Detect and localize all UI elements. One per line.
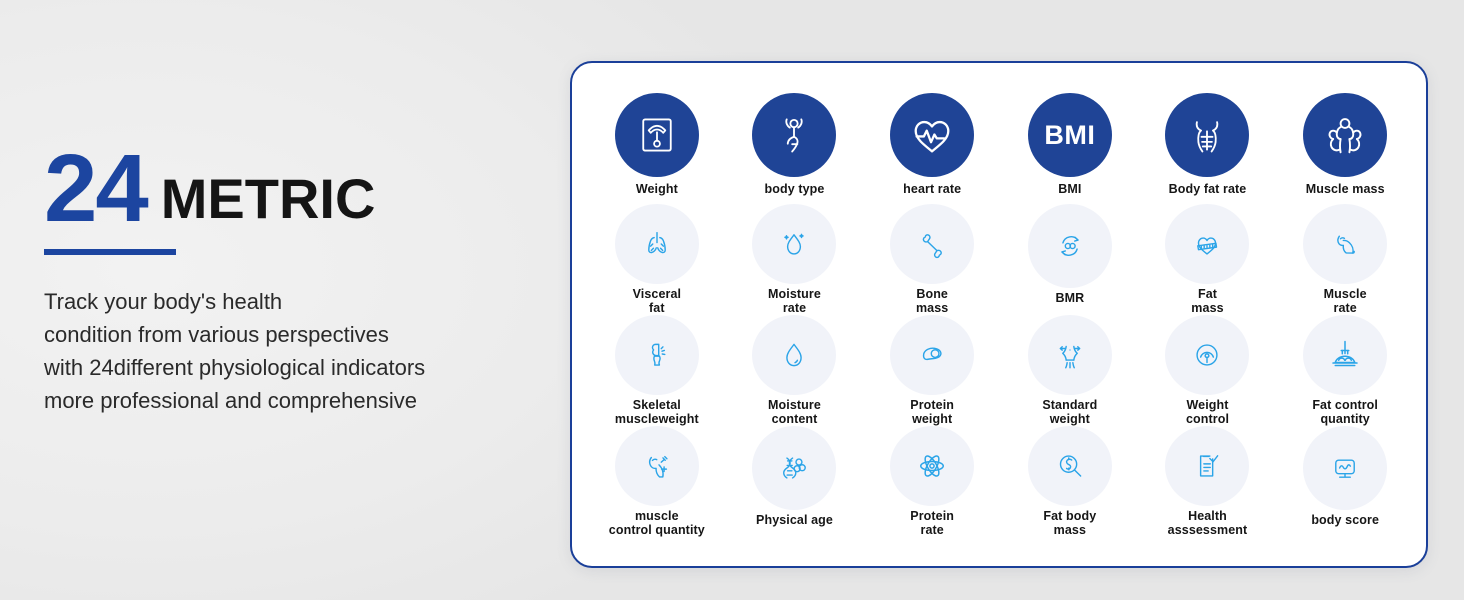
metric-label: Moisturecontent — [768, 399, 821, 426]
fat-ruler-icon — [1190, 227, 1224, 261]
metric-icon-bubble[interactable] — [1028, 204, 1112, 288]
metric-label: BMR — [1055, 292, 1084, 306]
title-underline — [44, 249, 176, 255]
metric-label-line1: Weight — [1186, 398, 1228, 412]
metric-cell[interactable]: BMR — [1001, 204, 1139, 315]
metric-label-line2: control — [1186, 413, 1229, 427]
headline-number: 24 — [44, 148, 147, 231]
metrics-card: Weight body type heart rateBMIBMI Body f… — [570, 61, 1428, 568]
metric-cell[interactable]: Fatmass — [1139, 204, 1277, 315]
metric-cell[interactable]: body type — [726, 93, 864, 204]
metric-label: Body fat rate — [1169, 183, 1247, 197]
metric-label: heart rate — [903, 183, 961, 197]
magnifier-fat-icon — [1053, 449, 1087, 483]
metric-cell[interactable]: Healthasssessment — [1139, 426, 1277, 537]
metric-label-line1: BMI — [1058, 182, 1081, 196]
description-line-3: with 24different physiological indicator… — [44, 351, 514, 384]
lungs-icon — [640, 227, 674, 261]
heart-pulse-icon — [909, 112, 955, 158]
description-line-2: condition from various perspectives — [44, 318, 514, 351]
metric-label-line1: Physical age — [756, 513, 833, 527]
metric-cell[interactable]: Proteinweight — [863, 315, 1001, 426]
metric-label-line1: Moisture — [768, 287, 821, 301]
description-text: Track your body's health condition from … — [44, 285, 514, 417]
metabolism-cycle-icon — [1053, 229, 1087, 263]
metric-label-line1: Skeletal — [633, 398, 681, 412]
bone-icon — [915, 227, 949, 261]
metric-cell[interactable]: Weightcontrol — [1139, 315, 1277, 426]
metric-label-line1: Bone — [916, 287, 948, 301]
metric-label-line1: heart rate — [903, 182, 961, 196]
metric-label: Moisturerate — [768, 288, 821, 315]
metric-icon-bubble[interactable] — [1303, 315, 1387, 395]
metric-cell[interactable]: Bonemass — [863, 204, 1001, 315]
metric-cell[interactable]: musclecontrol quantity — [588, 426, 726, 537]
description-line-4: more professional and comprehensive — [44, 384, 514, 417]
body-type-icon — [772, 113, 816, 157]
metric-label-line1: Standard — [1042, 398, 1097, 412]
metric-icon-bubble[interactable] — [1165, 426, 1249, 506]
metric-label: Proteinrate — [910, 510, 954, 537]
metric-label: Standardweight — [1042, 399, 1097, 426]
metric-label: Fatmass — [1191, 288, 1223, 315]
metric-label-line2: rate — [1324, 302, 1367, 316]
metric-label-line2: mass — [1043, 524, 1096, 538]
metric-label-line2: asssessment — [1168, 524, 1248, 538]
metrics-grid: Weight body type heart rateBMIBMI Body f… — [588, 93, 1414, 537]
metric-label-line1: Weight — [636, 182, 678, 196]
metric-cell[interactable]: Visceralfat — [588, 204, 726, 315]
metric-label-line2: rate — [910, 524, 954, 538]
headline: 24 METRIC — [44, 148, 514, 231]
metric-label-line2: quantity — [1312, 413, 1378, 427]
metric-icon-bubble[interactable] — [752, 426, 836, 510]
metric-label: Musclerate — [1324, 288, 1367, 315]
metric-icon-bubble[interactable] — [1165, 204, 1249, 284]
metric-label: body score — [1311, 514, 1379, 528]
metric-label-line1: Fat body — [1043, 509, 1096, 523]
metric-label: Healthasssessment — [1168, 510, 1248, 537]
water-drop-icon — [777, 338, 811, 372]
metric-cell[interactable]: Physical age — [726, 426, 864, 537]
metric-cell[interactable]: Skeletalmuscleweight — [588, 315, 726, 426]
headline-word: METRIC — [161, 171, 376, 231]
metric-label-line1: Protein — [910, 509, 954, 523]
metric-label: BMI — [1058, 183, 1081, 197]
metric-cell[interactable]: Moisturerate — [726, 204, 864, 315]
metric-icon-bubble[interactable] — [615, 204, 699, 284]
metric-label: Fat bodymass — [1043, 510, 1096, 537]
metric-icon-bubble[interactable] — [615, 93, 699, 177]
metric-label-line2: weight — [1042, 413, 1097, 427]
metric-icon-bubble[interactable] — [752, 315, 836, 395]
metric-label-line2: fat — [633, 302, 682, 316]
metric-icon-bubble[interactable] — [890, 315, 974, 395]
metric-icon-bubble[interactable]: BMI — [1028, 93, 1112, 177]
metric-label-line1: Muscle mass — [1306, 182, 1385, 196]
metric-cell[interactable]: heart rate — [863, 93, 1001, 204]
metric-label-line1: Health — [1188, 509, 1227, 523]
metric-label: musclecontrol quantity — [609, 510, 705, 537]
weight-scale-icon — [635, 113, 679, 157]
metric-label-line1: Moisture — [768, 398, 821, 412]
metric-label: Muscle mass — [1306, 183, 1385, 197]
metric-cell[interactable]: body score — [1276, 426, 1414, 537]
flex-muscles-icon — [1322, 112, 1368, 158]
metric-label-line1: Fat — [1198, 287, 1217, 301]
metric-cell[interactable]: Fat controlquantity — [1276, 315, 1414, 426]
metric-label-line1: Fat control — [1312, 398, 1378, 412]
atom-icon — [914, 448, 950, 484]
metric-label: Proteinweight — [910, 399, 954, 426]
intro-panel: 24 METRIC Track your body's health condi… — [44, 148, 514, 417]
metric-label-line2: rate — [768, 302, 821, 316]
description-line-1: Track your body's health — [44, 285, 514, 318]
dna-molecule-icon — [777, 451, 811, 485]
metric-cell[interactable]: BMIBMI — [1001, 93, 1139, 204]
gauge-icon — [1190, 338, 1224, 372]
bone-joint-icon — [640, 338, 674, 372]
metric-cell[interactable]: Proteinrate — [863, 426, 1001, 537]
metric-icon-bubble[interactable] — [1165, 315, 1249, 395]
metric-label-line2: control quantity — [609, 524, 705, 538]
metric-label: Bonemass — [916, 288, 948, 315]
metric-cell[interactable]: Fat bodymass — [1001, 426, 1139, 537]
metric-cell[interactable]: Weight — [588, 93, 726, 204]
metric-label: Weightcontrol — [1186, 399, 1229, 426]
metric-icon-bubble[interactable] — [615, 315, 699, 395]
metric-icon-bubble[interactable] — [1303, 93, 1387, 177]
metric-icon-bubble[interactable] — [1165, 93, 1249, 177]
metric-label-line1: body score — [1311, 513, 1379, 527]
metric-cell[interactable]: Body fat rate — [1139, 93, 1277, 204]
metric-label-line2: mass — [916, 302, 948, 316]
metric-label-line1: body type — [765, 182, 825, 196]
torso-abs-icon — [1185, 113, 1229, 157]
metric-icon-bubble[interactable] — [890, 93, 974, 177]
monitor-wave-icon — [1328, 451, 1362, 485]
metric-label-line2: muscleweight — [615, 413, 699, 427]
metric-icon-bubble[interactable] — [1303, 426, 1387, 510]
metric-icon-bubble[interactable] — [1028, 315, 1112, 395]
metric-label-line1: Body fat rate — [1169, 182, 1247, 196]
metric-label-line2: mass — [1191, 302, 1223, 316]
metric-icon-bubble[interactable] — [615, 426, 699, 506]
metric-icon-bubble[interactable] — [752, 204, 836, 284]
metric-icon-bubble[interactable] — [752, 93, 836, 177]
arm-dumbbell-icon — [640, 449, 674, 483]
metric-label: Visceralfat — [633, 288, 682, 315]
water-drop-sparkle-icon — [777, 227, 811, 261]
metric-icon-bubble[interactable] — [1028, 426, 1112, 506]
bicep-arm-icon — [1328, 227, 1362, 261]
metric-label-line2: weight — [910, 413, 954, 427]
metric-label-line1: Protein — [910, 398, 954, 412]
metric-icon-bubble[interactable] — [890, 204, 974, 284]
metric-label-line1: BMR — [1055, 291, 1084, 305]
metric-icon-bubble[interactable] — [1303, 204, 1387, 284]
metric-label: body type — [765, 183, 825, 197]
metric-cell[interactable]: Musclerate — [1276, 204, 1414, 315]
metric-label-line1: Muscle — [1324, 287, 1367, 301]
metric-label: Skeletalmuscleweight — [615, 399, 699, 426]
metric-label-line1: Visceral — [633, 287, 682, 301]
metric-label: Fat controlquantity — [1312, 399, 1378, 426]
waist-measure-icon — [1053, 338, 1087, 372]
metric-label: Weight — [636, 183, 678, 197]
metric-cell[interactable]: Standardweight — [1001, 315, 1139, 426]
fork-noodles-icon — [1327, 337, 1363, 373]
metric-icon-bubble[interactable] — [890, 426, 974, 506]
metric-cell[interactable]: Muscle mass — [1276, 93, 1414, 204]
metric-cell[interactable]: Moisturecontent — [726, 315, 864, 426]
bmi-text-icon: BMI — [1044, 120, 1095, 151]
egg-icon — [915, 338, 949, 372]
metric-label: Physical age — [756, 514, 833, 528]
metric-label-line1: muscle — [635, 509, 679, 523]
clipboard-check-icon — [1190, 449, 1224, 483]
metric-label-line2: content — [768, 413, 821, 427]
